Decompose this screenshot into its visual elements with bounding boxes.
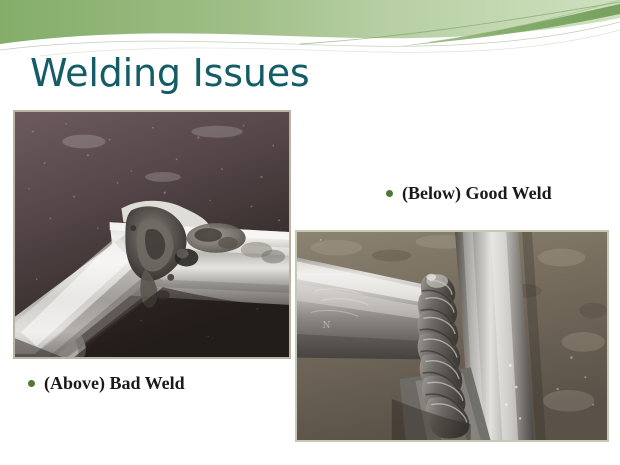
svg-text:N: N bbox=[323, 321, 331, 331]
header-arc-line-4 bbox=[430, 0, 620, 42]
list-item-bad-weld: (Above) Bad Weld bbox=[28, 372, 185, 394]
good-weld-photo: N bbox=[295, 230, 609, 442]
header-arc-line-3 bbox=[300, 2, 620, 44]
bad-weld-photo bbox=[13, 110, 291, 359]
list-item-label: (Below) Good Weld bbox=[402, 182, 552, 204]
page-title: Welding Issues bbox=[30, 50, 310, 96]
header-arc-line-1 bbox=[0, 22, 620, 50]
header-green-ribbon bbox=[400, 4, 620, 46]
list-item-good-weld: (Below) Good Weld bbox=[386, 182, 552, 204]
presentation-slide: Welding Issues bbox=[0, 0, 620, 465]
bullet-dot-icon bbox=[386, 190, 393, 197]
header-green-band bbox=[0, 0, 620, 44]
bullet-dot-icon bbox=[28, 380, 35, 387]
list-item-label: (Above) Bad Weld bbox=[44, 372, 185, 394]
